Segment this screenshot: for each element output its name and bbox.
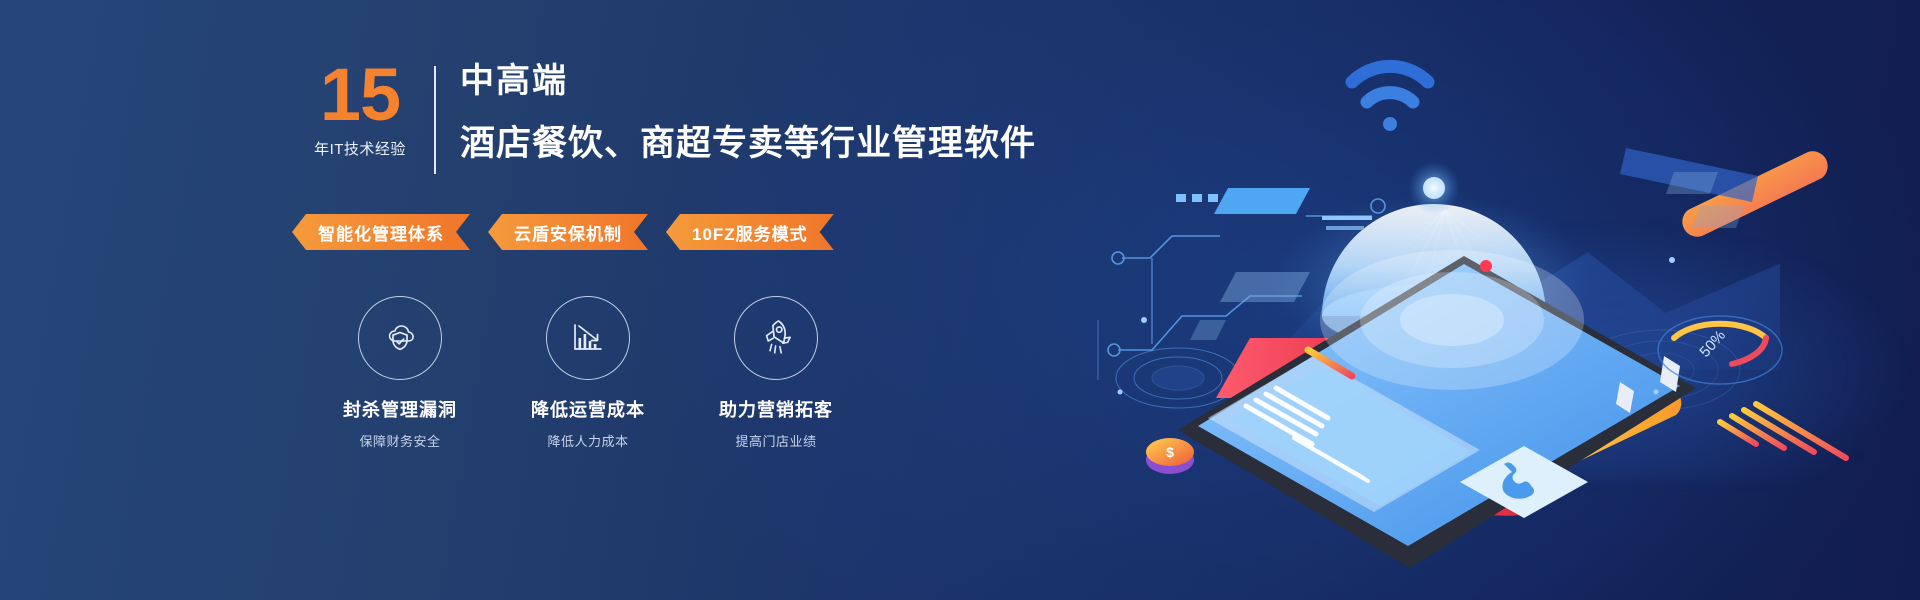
headline-line-2: 酒店餐饮、商超专卖等行业管理软件 bbox=[460, 115, 1036, 166]
dome-spark-glow bbox=[1408, 162, 1460, 214]
feature-item-2[interactable]: 助力营销拓客 提高门店业绩 bbox=[682, 296, 870, 450]
feature-icon-circle bbox=[546, 296, 630, 380]
headline-row: 15 年IT技术经验 中高端 酒店餐饮、商超专卖等行业管理软件 bbox=[300, 60, 1120, 176]
spark bbox=[1141, 317, 1147, 323]
tag-label: 云盾安保机制 bbox=[514, 220, 622, 245]
feature-title: 助力营销拓客 bbox=[682, 396, 870, 422]
spark bbox=[1669, 257, 1675, 263]
experience-number: 15 bbox=[300, 60, 420, 130]
feature-title: 封杀管理漏洞 bbox=[306, 396, 494, 422]
tag-label: 智能化管理体系 bbox=[318, 220, 444, 245]
headline-line-1: 中高端 bbox=[460, 60, 1036, 103]
hero-banner: 15 年IT技术经验 中高端 酒店餐饮、商超专卖等行业管理软件 智能化管理体系 … bbox=[0, 0, 1920, 600]
coin-symbol: $ bbox=[1166, 444, 1174, 460]
spark bbox=[1654, 390, 1659, 395]
experience-caption: 年IT技术经验 bbox=[300, 138, 420, 159]
hero-content: 15 年IT技术经验 中高端 酒店餐饮、商超专卖等行业管理软件 智能化管理体系 … bbox=[300, 60, 1120, 450]
feature-icon-circle bbox=[734, 296, 818, 380]
experience-badge: 15 年IT技术经验 bbox=[300, 60, 434, 159]
feature-subtitle: 提高门店业绩 bbox=[682, 431, 870, 450]
feature-subtitle: 保障财务安全 bbox=[306, 431, 494, 450]
tag-item-0[interactable]: 智能化管理体系 bbox=[292, 214, 470, 250]
wifi-icon bbox=[1352, 66, 1428, 131]
tag-item-2[interactable]: 10FZ服务模式 bbox=[666, 214, 834, 250]
cloud-shield-icon bbox=[378, 316, 422, 360]
gradient-bars bbox=[1720, 404, 1846, 458]
feature-item-1[interactable]: 降低运营成本 降低人力成本 bbox=[494, 296, 682, 450]
tag-label: 10FZ服务模式 bbox=[692, 220, 808, 245]
feature-title: 降低运营成本 bbox=[494, 396, 682, 422]
feature-item-0[interactable]: 封杀管理漏洞 保障财务安全 bbox=[306, 296, 494, 450]
tag-list: 智能化管理体系 云盾安保机制 10FZ服务模式 bbox=[292, 214, 1120, 250]
coin-icon: $ bbox=[1146, 438, 1194, 474]
tag-item-1[interactable]: 云盾安保机制 bbox=[488, 214, 648, 250]
hero-illustration: $ 50% bbox=[1060, 20, 1900, 580]
rocket-icon bbox=[754, 316, 798, 360]
donut-label: 50% bbox=[1696, 327, 1729, 361]
feature-icon-circle bbox=[358, 296, 442, 380]
spark bbox=[1118, 390, 1123, 395]
declining-bar-chart-icon bbox=[566, 316, 610, 360]
donut-chart: 50% bbox=[1658, 316, 1782, 384]
feature-subtitle: 降低人力成本 bbox=[494, 431, 682, 450]
feature-list: 封杀管理漏洞 保障财务安全 降低运营成本 降低人力成本 bbox=[306, 296, 1120, 450]
decor-bar-blue bbox=[1190, 320, 1226, 340]
headline-text: 中高端 酒店餐饮、商超专卖等行业管理软件 bbox=[436, 60, 1036, 166]
